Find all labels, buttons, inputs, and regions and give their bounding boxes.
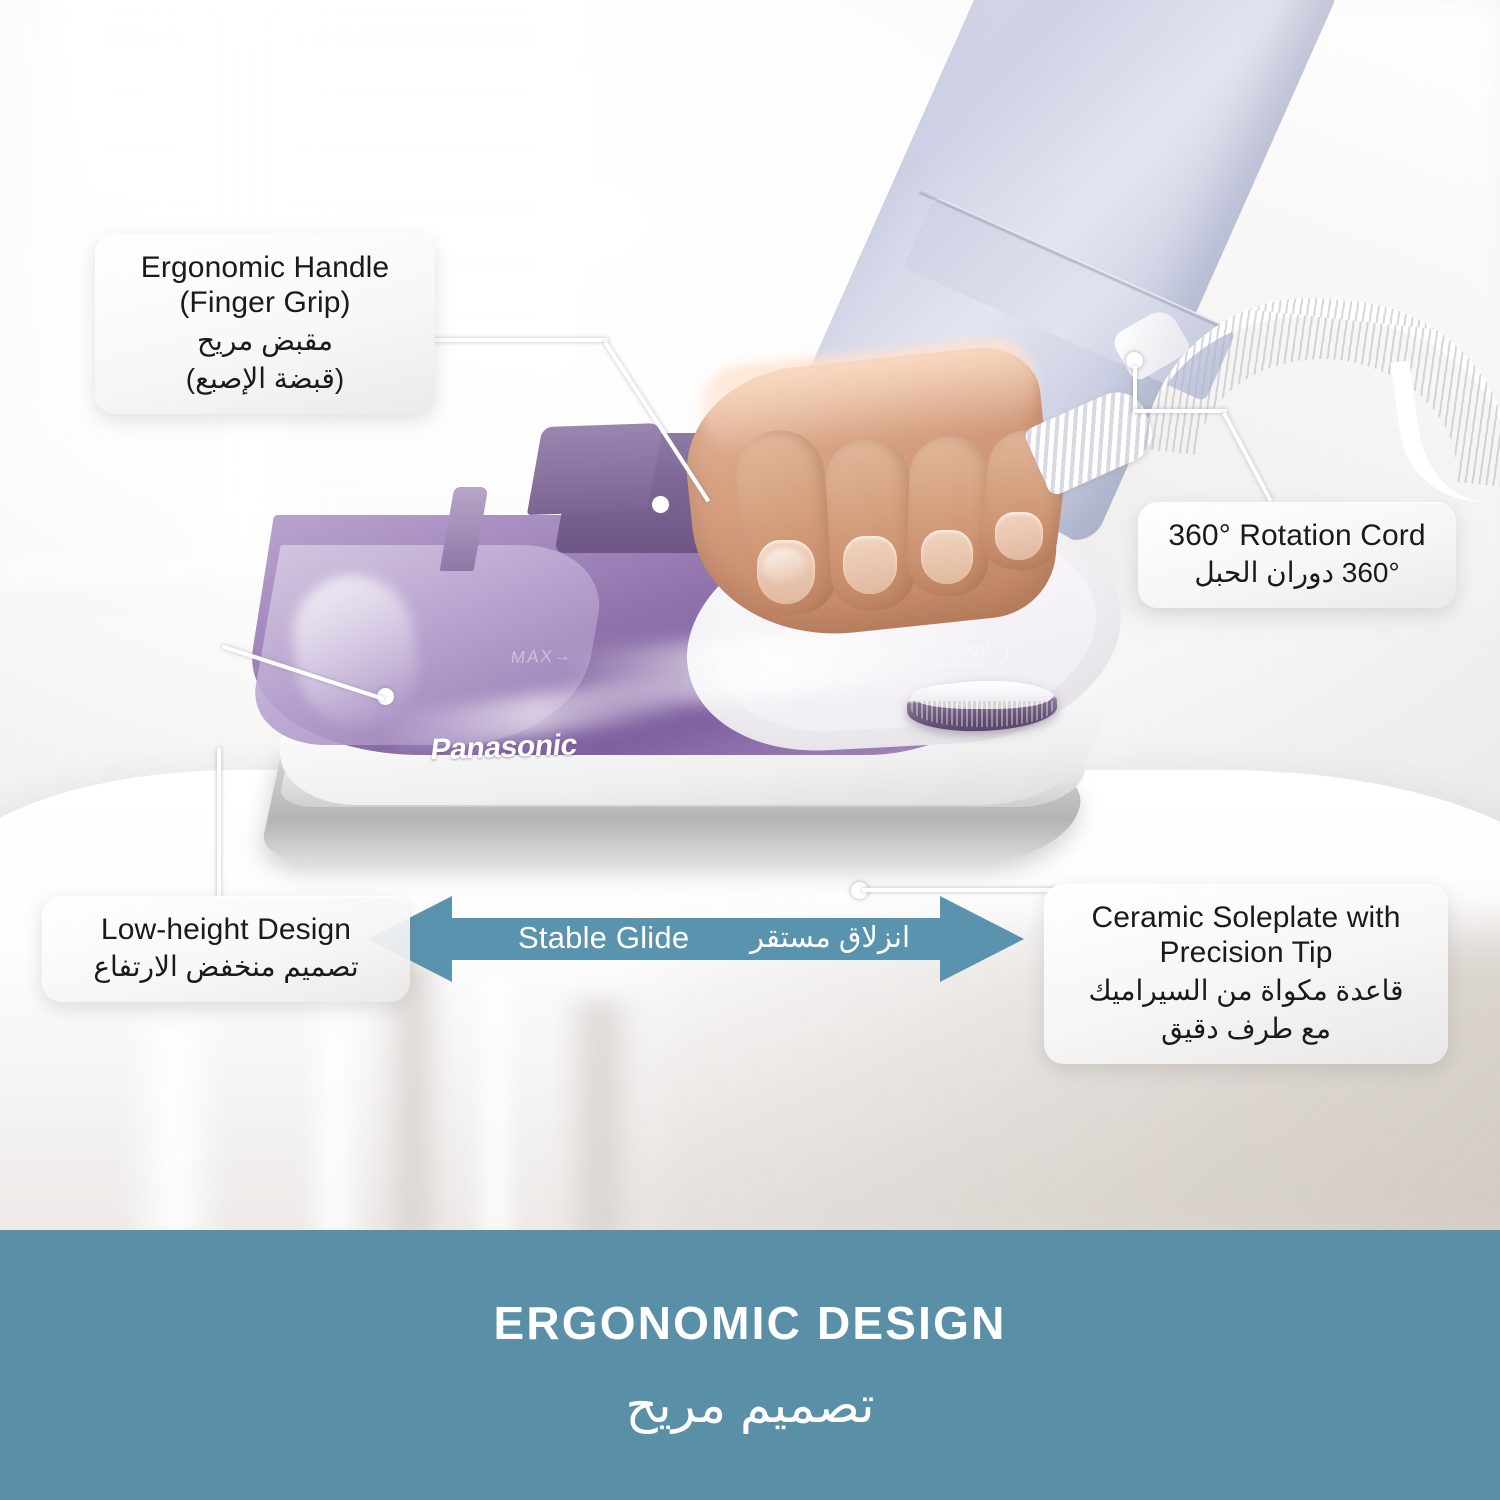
callout-cord-ar-1: 360° دوران الحبل: [1160, 555, 1434, 591]
max-fill-marking: MAX→: [510, 646, 575, 668]
wattage-badge: 2400W: [928, 637, 1010, 666]
callout-handle-ar-2: (قبضة الإصبع): [117, 361, 413, 397]
fingernail: [843, 536, 897, 594]
leader-line-low-vertical: [217, 748, 221, 902]
bottom-banner: ERGONOMIC DESIGN تصميم مريح: [0, 1230, 1500, 1500]
feature-badges: 110 g ◓ Steam Shot ◔ Spray 2400W: [832, 632, 1011, 674]
fabric-fold: [470, 980, 522, 1230]
banner-title-en: ERGONOMIC DESIGN: [493, 1296, 1006, 1350]
steam-shot-button: [527, 423, 663, 515]
callout-handle-en-2: (Finger Grip): [117, 285, 413, 320]
product-photo: MAX→ Panasonic 110 g ◓ Steam Shot ◔ Spra…: [0, 0, 1500, 1230]
fabric-fold: [120, 1020, 230, 1230]
callout-ergonomic-handle: Ergonomic Handle (Finger Grip) مقبض مريح…: [95, 234, 435, 414]
leader-line-cord-vertical: [1133, 366, 1137, 412]
fabric-fold: [560, 1000, 640, 1230]
callout-sole-en-1: Ceramic Soleplate with: [1066, 900, 1426, 935]
double-headed-arrow-icon: [368, 896, 1024, 982]
leader-dot-handle: [652, 496, 669, 513]
banner-title-ar: تصميم مريح: [626, 1376, 875, 1434]
callout-handle-ar-1: مقبض مريح: [117, 323, 413, 359]
callout-low-height-design: Low-height Design تصميم منخفض الارتفاع: [42, 896, 410, 1002]
callout-cord-en-1: 360° Rotation Cord: [1160, 518, 1434, 553]
callout-low-ar-1: تصميم منخفض الارتفاع: [64, 949, 388, 985]
callout-sole-ar-1: قاعدة مكواة من السيراميك: [1066, 973, 1426, 1009]
stable-glide-label-ar: انزلاق مستقر: [750, 920, 910, 955]
stable-glide-label-en: Stable Glide: [518, 920, 689, 956]
callout-sole-ar-2: مع طرف دقيق: [1066, 1011, 1426, 1047]
panasonic-logo: Panasonic: [429, 728, 579, 767]
leader-line-soleplate: [862, 888, 1062, 892]
spray-badge: ◔ Spray: [891, 640, 915, 667]
product-infographic: MAX→ Panasonic 110 g ◓ Steam Shot ◔ Spra…: [0, 0, 1500, 1500]
leader-line-cord-horizontal: [1133, 409, 1227, 413]
callout-low-en-1: Low-height Design: [64, 912, 388, 947]
fingernail: [921, 530, 973, 584]
finger-sheen: [762, 548, 806, 582]
fingernail: [995, 512, 1043, 560]
callout-sole-en-2: Precision Tip: [1066, 935, 1426, 970]
leader-line-handle: [432, 338, 608, 342]
callout-rotation-cord: 360° Rotation Cord 360° دوران الحبل: [1138, 502, 1456, 608]
callout-handle-en-1: Ergonomic Handle: [117, 250, 413, 285]
stable-glide-arrow: Stable Glide انزلاق مستقر: [368, 896, 1024, 982]
callout-ceramic-soleplate: Ceramic Soleplate with Precision Tip قاع…: [1044, 884, 1448, 1064]
steam-shot-badge: 110 g ◓ Steam Shot: [832, 637, 878, 675]
